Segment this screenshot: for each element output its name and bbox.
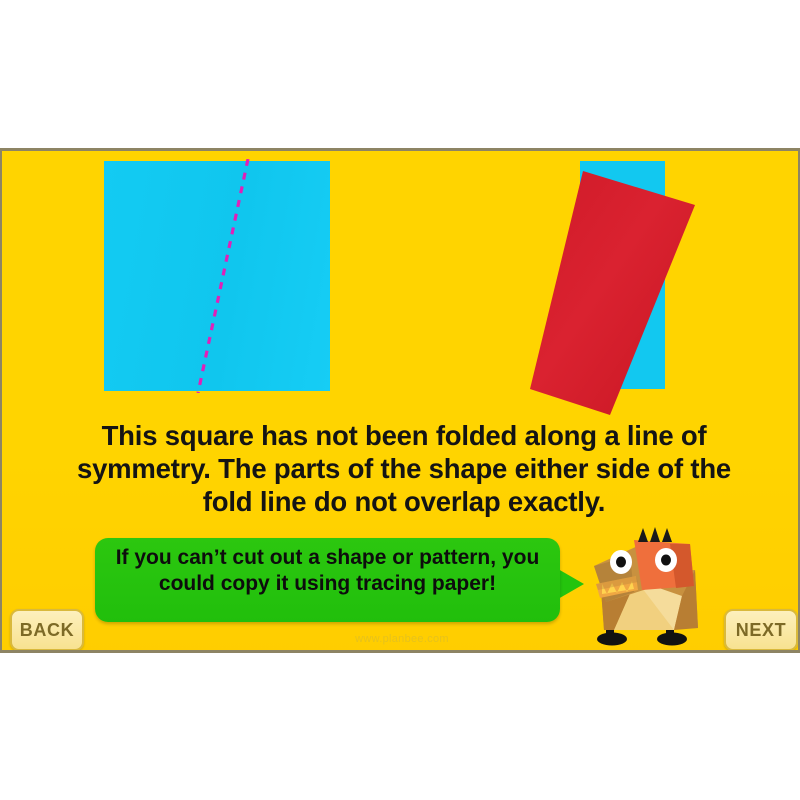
next-button[interactable]: NEXT [724,609,798,651]
slide-canvas: This square has not been folded along a … [2,151,800,653]
back-button-label: BACK [20,620,74,641]
back-button[interactable]: BACK [10,609,84,651]
next-button-label: NEXT [736,620,786,641]
statement-text: This square has not been folded along a … [54,419,754,518]
tip-speech-bubble: If you can’t cut out a shape or pattern,… [95,538,560,622]
watermark-text: www.planbee.com [252,633,552,645]
lesson-slide: This square has not been folded along a … [0,148,800,653]
dinosaur-mascot [590,526,705,651]
cyan-square-shape [104,161,330,391]
cyan-rectangle-base [580,161,665,389]
speech-bubble-tail [558,569,584,599]
tip-text: If you can’t cut out a shape or pattern,… [95,545,560,597]
